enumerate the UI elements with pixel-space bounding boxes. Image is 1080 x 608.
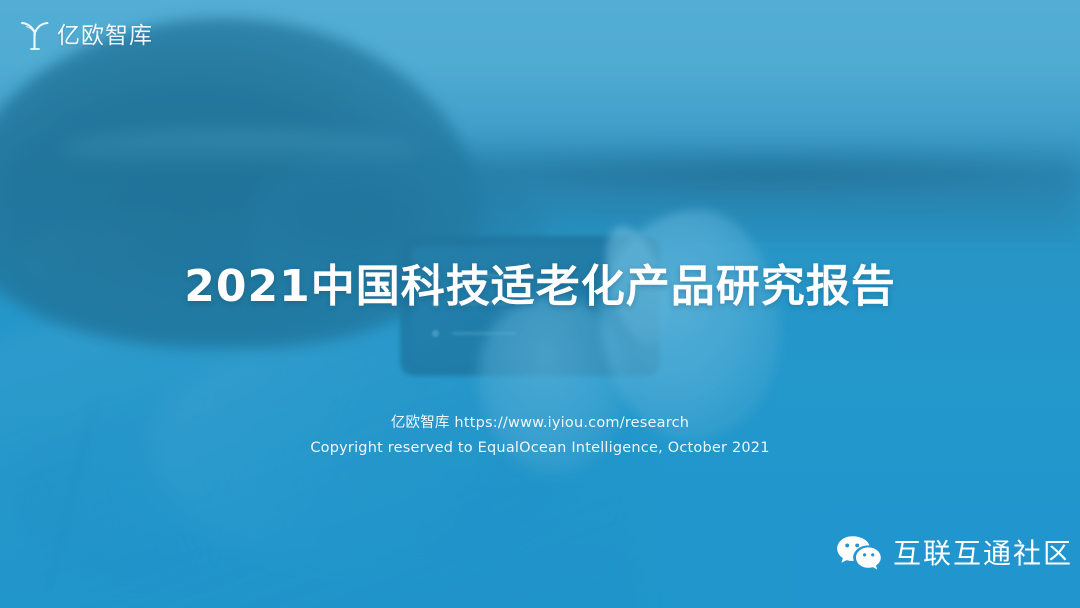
yiou-y-mark-icon <box>20 20 50 52</box>
source-line: 亿欧智库 https://www.iyiou.com/research <box>0 411 1080 432</box>
wechat-icon <box>836 534 882 574</box>
brand-name: 亿欧智库 <box>57 25 153 48</box>
copyright-line: Copyright reserved to EqualOcean Intelli… <box>0 440 1080 456</box>
community-watermark: 互联互通社区 <box>790 500 1080 608</box>
community-name: 互联互通社区 <box>893 540 1073 568</box>
page-title: 2021中国科技适老化产品研究报告 <box>0 250 1080 314</box>
report-cover-slide: 亿欧智库 2021中国科技适老化产品研究报告 亿欧智库 https://www.… <box>0 0 1080 608</box>
brand-logo[interactable]: 亿欧智库 <box>20 20 153 52</box>
